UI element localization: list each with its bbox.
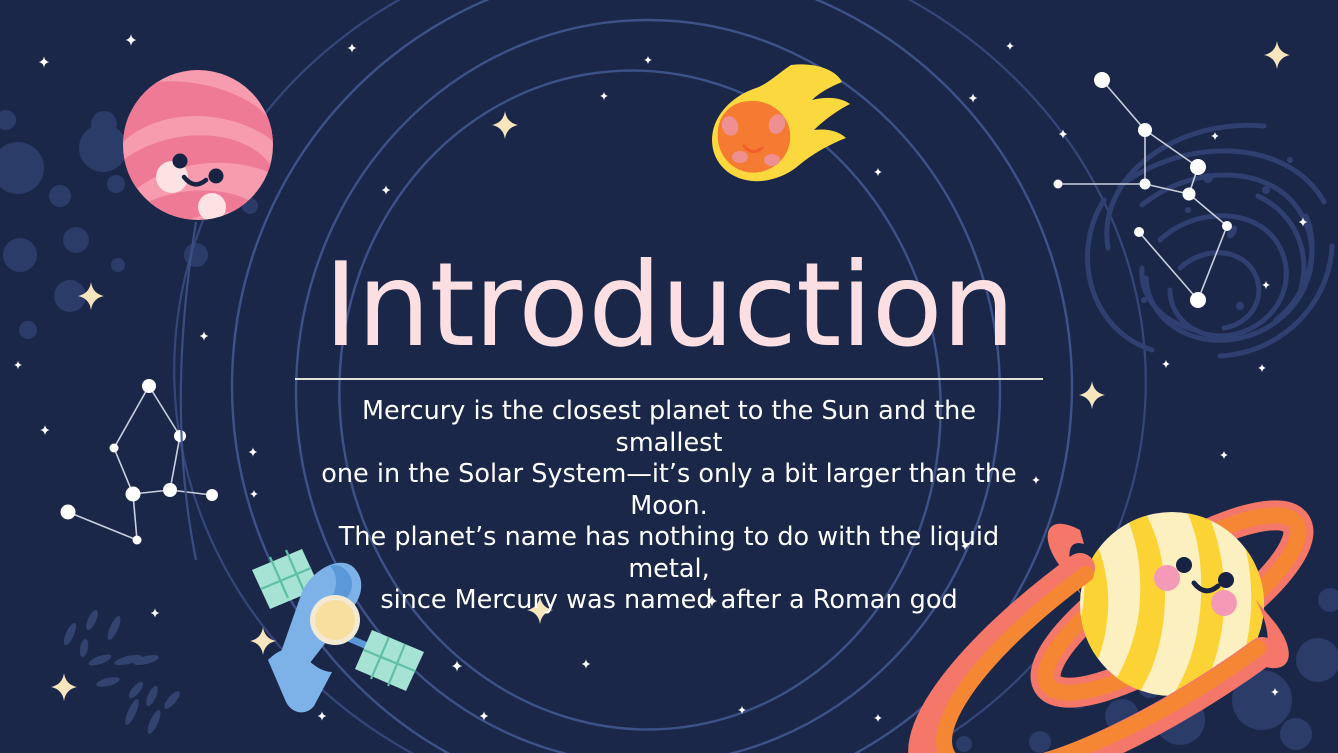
page-title: Introduction (0, 248, 1338, 364)
body-line: Mercury is the closest planet to the Sun… (319, 396, 1019, 459)
body-line: since Mercury was named after a Roman go… (319, 585, 1019, 617)
body-line: one in the Solar System—it’s only a bit … (319, 459, 1019, 522)
slide-body-text: Mercury is the closest planet to the Sun… (319, 396, 1019, 617)
title-divider (295, 378, 1043, 380)
body-line: The planet’s name has nothing to do with… (319, 522, 1019, 585)
presentation-slide: Introduction Mercury is the closest plan… (0, 0, 1338, 753)
slide-content: Introduction Mercury is the closest plan… (0, 0, 1338, 753)
